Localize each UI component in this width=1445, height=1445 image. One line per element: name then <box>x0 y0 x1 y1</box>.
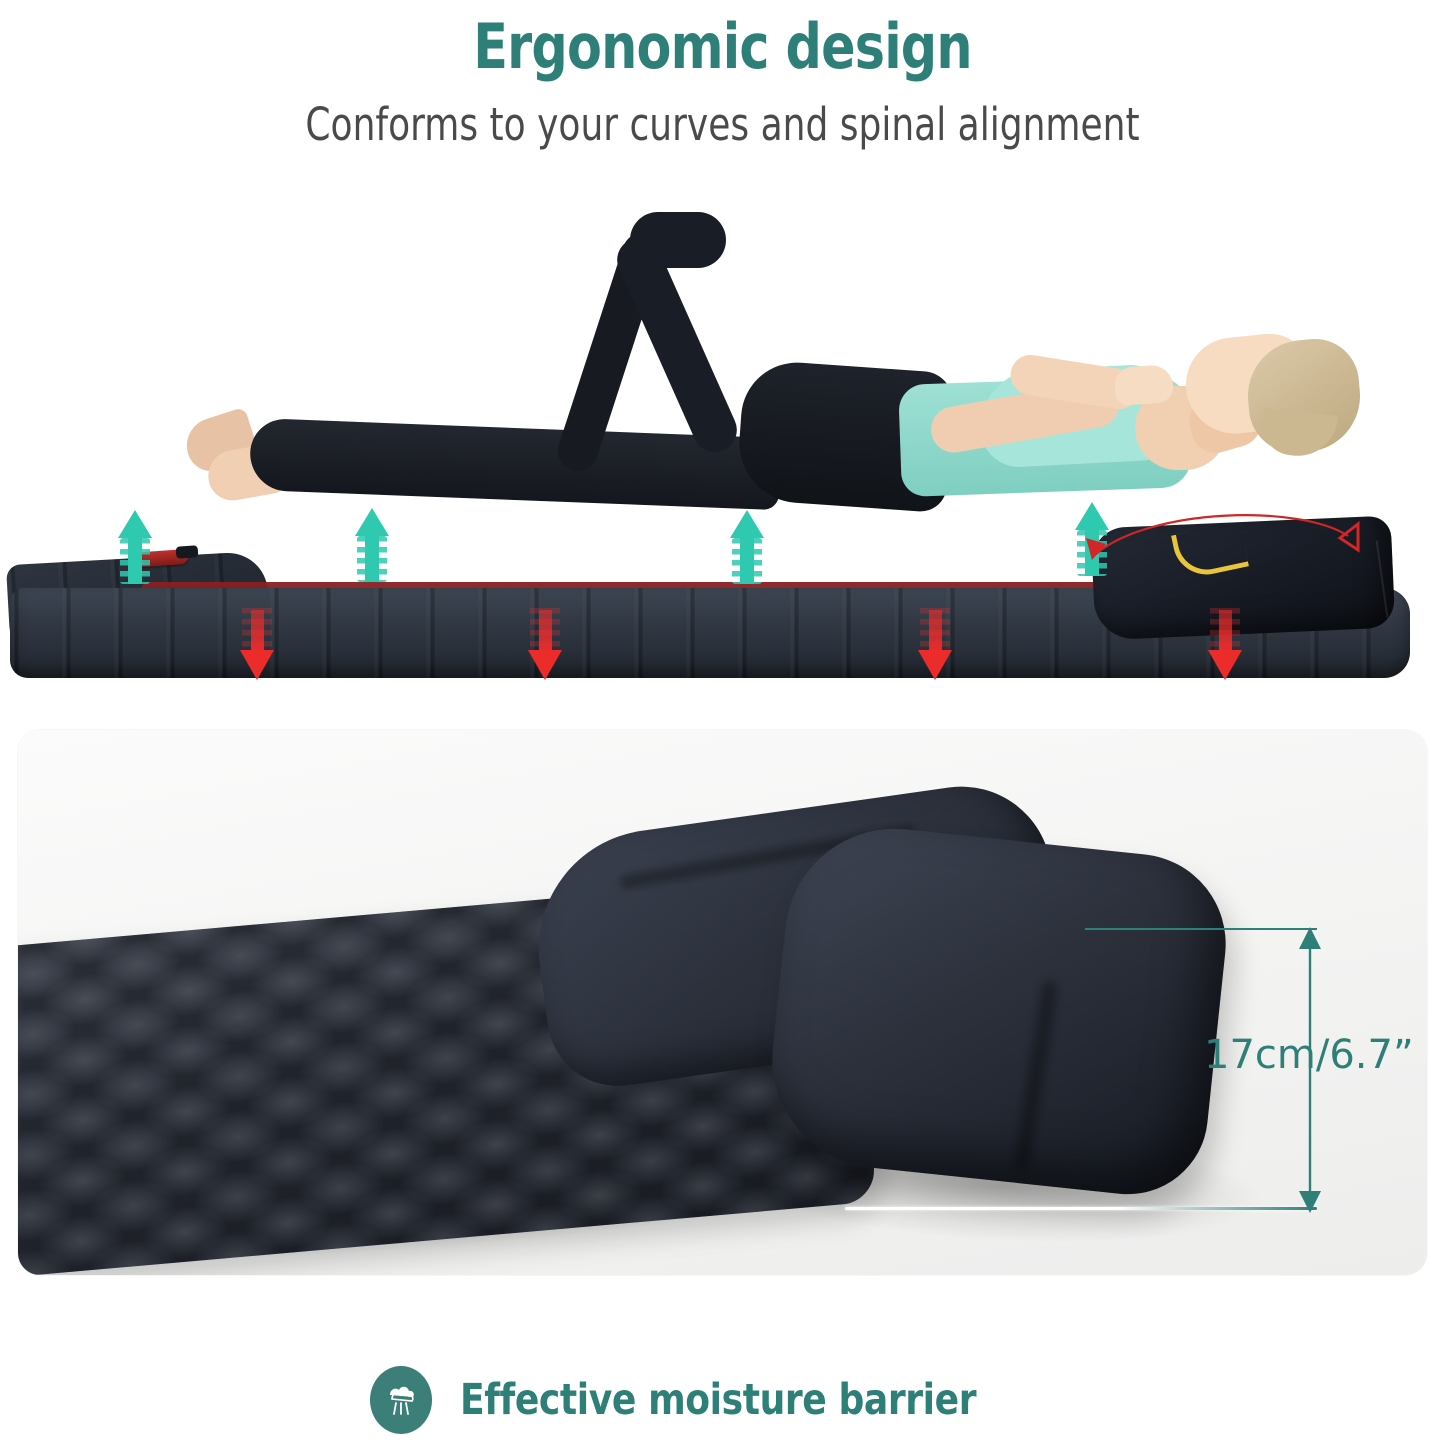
moisture-vapor-icon <box>370 1366 432 1434</box>
feature-caption-label: Effective moisture barrier <box>460 1375 976 1425</box>
support-arrow-up-icon <box>355 508 389 582</box>
head-adjustment-arc-icon <box>1080 510 1380 590</box>
headline-block: Ergonomic design Conforms to your curves… <box>0 0 1445 147</box>
feature-caption-row: Effective moisture barrier <box>0 1355 1445 1445</box>
pressure-arrow-down-icon <box>1208 608 1242 684</box>
hand <box>1114 364 1175 406</box>
pressure-arrow-down-icon <box>528 608 562 684</box>
pressure-arrow-down-icon <box>918 608 952 684</box>
support-arrow-up-icon <box>730 510 764 584</box>
hair-strand <box>1260 408 1338 459</box>
page-subtitle: Conforms to your curves and spinal align… <box>145 78 1301 147</box>
dimension-extension-line-top <box>1085 928 1317 930</box>
infographic-page: Ergonomic design Conforms to your curves… <box>0 0 1445 1445</box>
support-arrow-up-icon <box>118 510 152 584</box>
pressure-arrow-down-icon <box>240 608 274 684</box>
pillow-front-lobe <box>761 818 1234 1202</box>
dimension-extension-line-bottom <box>845 1207 1317 1210</box>
page-title: Ergonomic design <box>130 0 1315 78</box>
dimension-label: 17cm/6.7” <box>1204 1032 1414 1078</box>
product-photo-panel <box>18 730 1427 1275</box>
